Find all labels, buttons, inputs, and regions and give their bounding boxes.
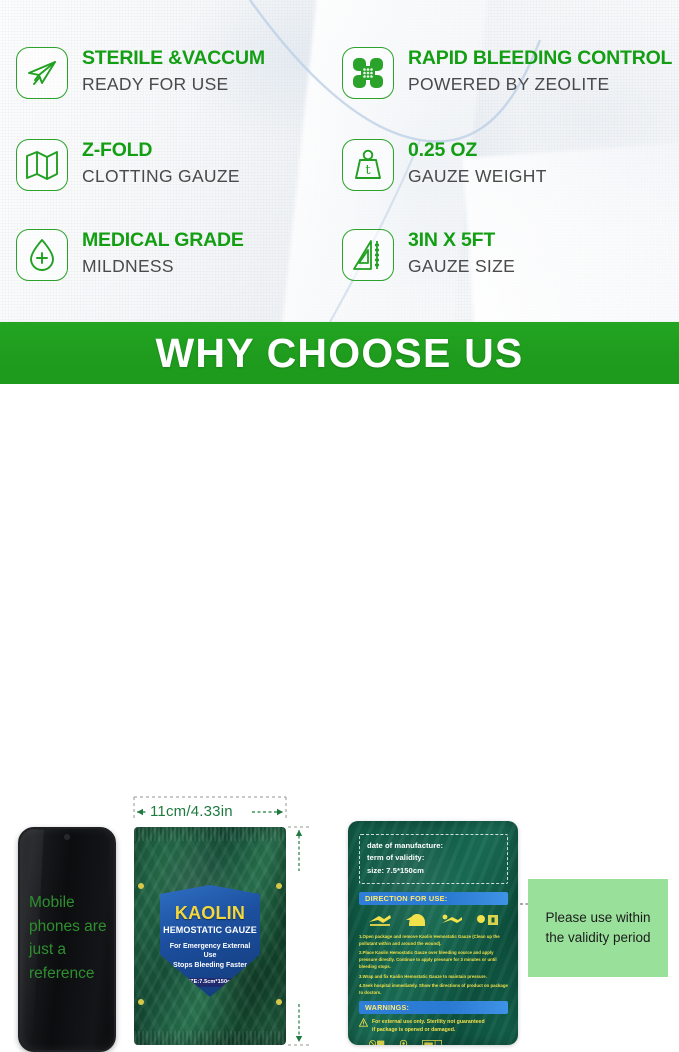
front-package: KAOLIN HEMOSTATIC GAUZE For Emergency Ex… [134, 827, 286, 1045]
direction-step-3: 3.Wrap and fix Kaolin Hemostatic Gauze t… [359, 974, 508, 981]
warning-line-1: For external use only. Sterility not gua… [372, 1018, 485, 1026]
feature-subtitle: READY FOR USE [82, 73, 265, 97]
feature-title: 3IN X 5FT [408, 229, 515, 252]
feature-z-fold: Z-FOLD CLOTTING GAUZE [0, 137, 330, 227]
phone-reference-caption: Mobile phones are just a reference [29, 891, 113, 985]
validity-callout: Please use within the validity period [528, 879, 668, 977]
directions-heading: DIRECTION FOR USE: [359, 892, 508, 905]
validity-term-label: term of validity: [367, 852, 500, 864]
regulatory-symbols [359, 1039, 508, 1045]
warning-triangle-icon [359, 1018, 368, 1027]
manufacture-date-label: date of manufacture: [367, 840, 500, 852]
feature-subtitle: MILDNESS [82, 255, 244, 279]
direction-step-1: 1.Open package and remove Kaolin Hemosta… [359, 934, 508, 948]
feature-title: MEDICAL GRADE [82, 229, 244, 252]
feature-sterile-vaccum: STERILE &VACCUM READY FOR USE [0, 45, 330, 137]
feature-subtitle: CLOTTING GAUZE [82, 165, 240, 189]
warning-line-2: if package is opened or damaged. [372, 1026, 485, 1034]
size-label: size: 7.5*150cm [367, 865, 500, 877]
direction-step-2: 2.Place Kaolin Hemostatic Gauze over ble… [359, 950, 508, 971]
feature-gauze-size: 3IN X 5FT GAUZE SIZE [330, 227, 679, 317]
feature-title: RAPID BLEEDING CONTROL [408, 47, 672, 70]
wrap-gauze-icon [438, 911, 464, 928]
pouch-top-seal [134, 827, 286, 841]
manufacture-info-box: date of manufacture: term of validity: s… [359, 834, 508, 884]
lot-number-symbol-icon [422, 1040, 442, 1045]
banner-title: WHY CHOOSE US [156, 330, 524, 377]
feature-subtitle: GAUZE WEIGHT [408, 165, 547, 189]
feature-gauze-weight: t 0.25 OZ GAUZE WEIGHT [330, 137, 679, 227]
folded-map-icon [16, 139, 68, 191]
direction-steps-text: 1.Open package and remove Kaolin Hemosta… [359, 934, 508, 997]
tear-notch-icon [138, 883, 144, 889]
feature-title: 0.25 OZ [408, 139, 547, 162]
pouch-bottom-seal [134, 1031, 286, 1045]
feature-title: Z-FOLD [82, 139, 240, 162]
feature-medical-grade: MEDICAL GRADE MILDNESS [0, 227, 330, 317]
feature-rapid-bleeding-control: RAPID BLEEDING CONTROL POWERED BY ZEOLIT… [330, 45, 679, 137]
why-choose-us-banner: WHY CHOOSE US [0, 322, 679, 384]
phone-camera-icon [64, 834, 70, 840]
warnings-heading: WARNINGS: [359, 1001, 508, 1014]
seek-hospital-icon [474, 911, 500, 928]
brand-name: KAOLIN [160, 903, 260, 924]
product-type: HEMOSTATIC GAUZE [160, 925, 260, 935]
feature-subtitle: POWERED BY ZEOLITE [408, 73, 672, 97]
product-section: 11cm/4.33in 15cm/5.91in Mobile phones ar… [0, 384, 679, 668]
features-grid: STERILE &VACCUM READY FOR USE [0, 0, 679, 317]
feature-title: STERILE &VACCUM [82, 47, 265, 70]
back-package: date of manufacture: term of validity: s… [348, 821, 518, 1045]
open-package-icon [367, 911, 393, 928]
direction-step-icons [359, 911, 508, 928]
single-use-symbol-icon [399, 1039, 408, 1045]
reference-phone: Mobile phones are just a reference [18, 827, 116, 1052]
crossed-bandage-icon [342, 47, 394, 99]
do-not-reuse-symbol-icon [369, 1039, 385, 1045]
svg-text:t: t [365, 163, 371, 178]
tear-notch-icon [276, 999, 282, 1005]
width-dimension-label: 11cm/4.33in [150, 803, 233, 820]
claim-line-1: For Emergency External Use [160, 942, 260, 961]
droplet-plus-icon [16, 229, 68, 281]
warnings-body: For external use only. Sterility not gua… [359, 1018, 508, 1034]
callout-text: Please use within the validity period [528, 908, 668, 947]
weight-scale-icon: t [342, 139, 394, 191]
tear-notch-icon [276, 883, 282, 889]
features-section: STERILE &VACCUM READY FOR USE [0, 0, 679, 322]
tear-notch-icon [138, 999, 144, 1005]
paper-plane-icon [16, 47, 68, 99]
ruler-triangle-icon [342, 229, 394, 281]
apply-pressure-icon [403, 911, 429, 928]
direction-step-4: 4.Seek hospital immediately. Show the di… [359, 983, 508, 997]
feature-subtitle: GAUZE SIZE [408, 255, 515, 279]
